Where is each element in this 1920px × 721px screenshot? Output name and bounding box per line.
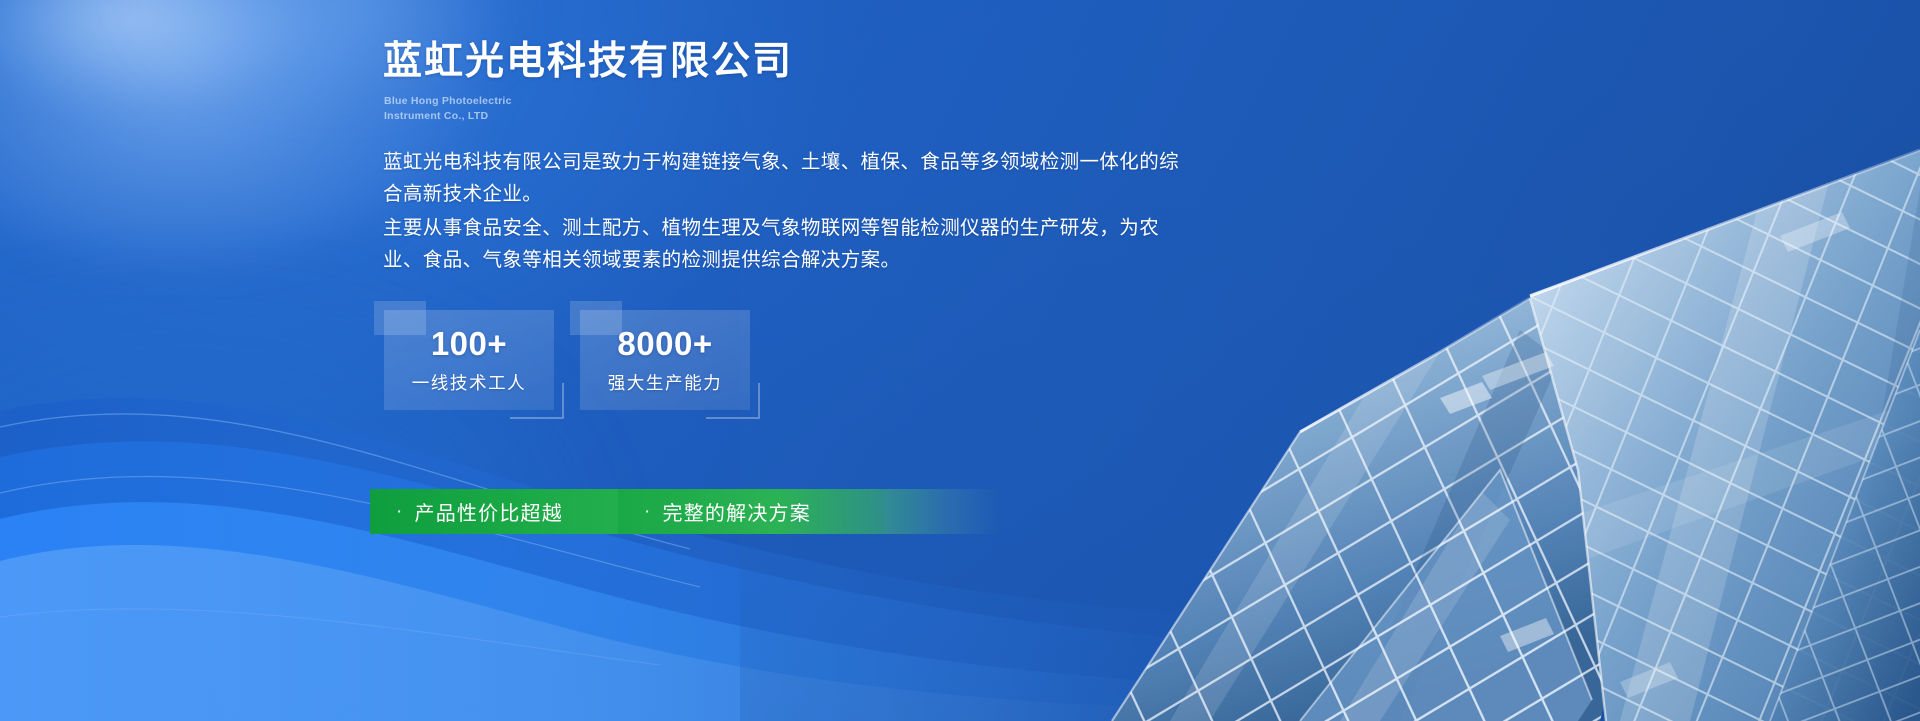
feature-tag-label: 产品性价比超越	[415, 497, 563, 526]
feature-tag-solution[interactable]: · 完整的解决方案	[618, 489, 884, 534]
feature-tags-group: · 产品性价比超越 · 完整的解决方案	[370, 489, 884, 534]
feature-tag-value[interactable]: · 产品性价比超越	[370, 489, 618, 534]
bullet-icon: ·	[644, 502, 652, 521]
company-subtitle-english: Blue Hong Photoelectric Instrument Co., …	[384, 94, 512, 123]
cloud-glow-bright	[0, 0, 300, 110]
hero-banner: 蓝虹光电科技有限公司 Blue Hong Photoelectric Instr…	[0, 0, 1920, 721]
bullet-icon: ·	[396, 502, 404, 521]
stat-label: 一线技术工人	[412, 375, 527, 393]
subtitle-line-2: Instrument Co., LTD	[384, 109, 512, 124]
stat-number: 100+	[431, 327, 507, 360]
stat-label: 强大生产能力	[608, 375, 723, 393]
subtitle-line-1: Blue Hong Photoelectric	[384, 94, 512, 109]
description-paragraph-2: 主要从事食品安全、测土配方、植物生理及气象物联网等智能检测仪器的生产研发，为农业…	[383, 212, 1183, 276]
feature-tag-label: 完整的解决方案	[663, 497, 811, 526]
page-title: 蓝虹光电科技有限公司	[383, 40, 793, 85]
stat-card-capacity: 8000+ 强大生产能力	[580, 310, 750, 410]
description-paragraph-1: 蓝虹光电科技有限公司是致力于构建链接气象、土壤、植保、食品等多领域检测一体化的综…	[383, 146, 1183, 210]
stat-number: 8000+	[617, 327, 712, 360]
hero-content: 蓝虹光电科技有限公司 Blue Hong Photoelectric Instr…	[383, 0, 1583, 721]
stat-card-workers: 100+ 一线技术工人	[384, 310, 554, 410]
stats-group: 100+ 一线技术工人 8000+ 强大生产能力	[384, 310, 750, 410]
